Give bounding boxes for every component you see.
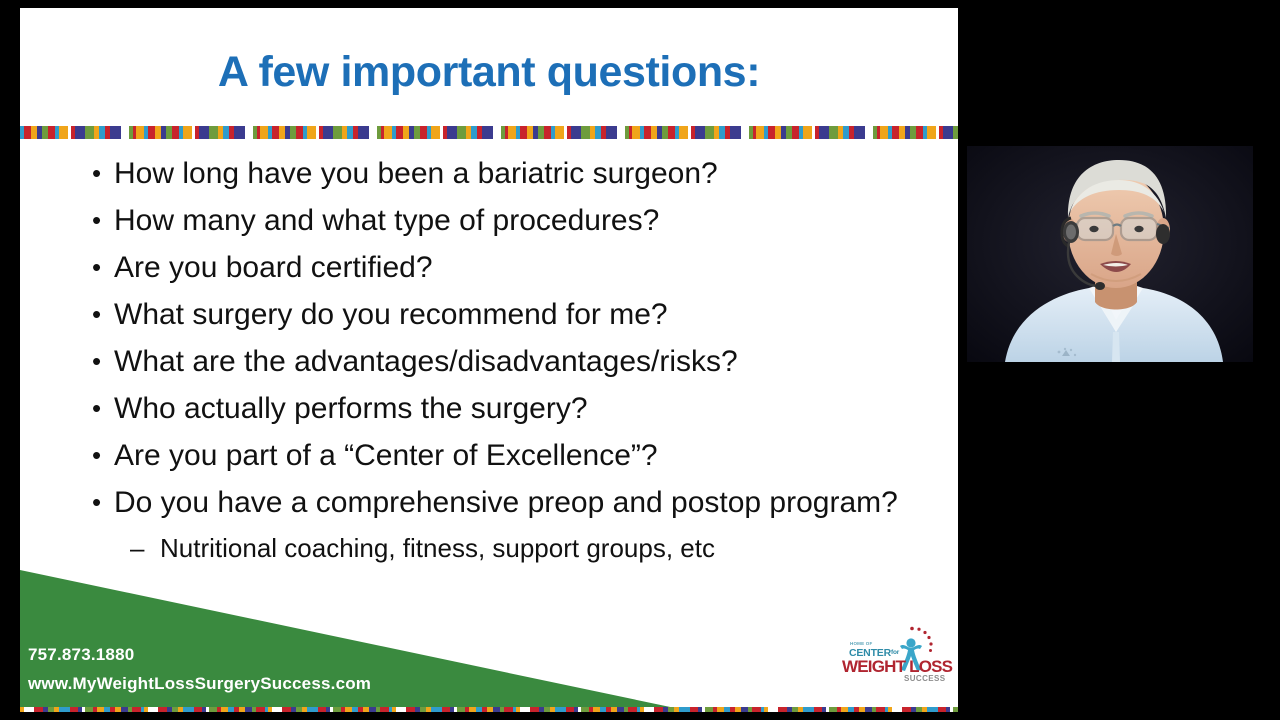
stripe-segment [741, 707, 748, 712]
stripe-segment [209, 126, 218, 139]
stripe-segment [555, 707, 566, 712]
stripe-segment [469, 707, 476, 712]
stripe-segment [632, 126, 640, 139]
bullet-marker-icon: • [78, 338, 110, 385]
stripe-segment [768, 707, 778, 712]
stripe-segment [493, 126, 501, 139]
stripe-segment [679, 707, 690, 712]
stripe-segment [854, 126, 865, 139]
stripe-segment [221, 707, 228, 712]
stripe-segment [606, 126, 617, 139]
stripe-segment [654, 707, 663, 712]
stripe-segment [953, 707, 958, 712]
stripe-segment [916, 126, 923, 139]
stripe-segment [307, 126, 316, 139]
stripe-segment [581, 126, 590, 139]
stripe-segment [333, 707, 341, 712]
stripe-segment [876, 707, 885, 712]
stripe-segment [581, 707, 589, 712]
stripe-segment [566, 707, 574, 712]
stripe-segment [927, 126, 936, 139]
stripe-segment [617, 707, 624, 712]
stripe-segment [493, 707, 500, 712]
stripe-segment [544, 126, 551, 139]
list-item: • Do you have a comprehensive preop and … [78, 479, 958, 526]
list-item: • What are the advantages/disadvantages/… [78, 338, 958, 385]
stripe-segment [369, 707, 376, 712]
stripe-segment [829, 126, 838, 139]
video-player-screen: A few important questions: • How long ha… [0, 0, 1280, 720]
stripe-segment [717, 707, 724, 712]
bullet-text: How many and what type of procedures? [110, 197, 958, 244]
decorative-stripe-top [20, 126, 958, 139]
stripe-segment [617, 126, 625, 139]
stripe-segment [256, 707, 265, 712]
stripe-segment [85, 126, 94, 139]
stripe-segment [756, 126, 764, 139]
stripe-segment [457, 126, 466, 139]
stripe-segment [384, 126, 392, 139]
stripe-segment [431, 126, 440, 139]
stripe-segment [442, 707, 450, 712]
stripe-segment [97, 707, 104, 712]
list-item: • Who actually performs the surgery? [78, 385, 958, 432]
stripe-segment [520, 126, 527, 139]
stripe-segment [530, 707, 539, 712]
stripe-segment [136, 126, 144, 139]
stripe-segment [803, 707, 814, 712]
list-item: • How long have you been a bariatric sur… [78, 150, 958, 197]
stripe-segment [508, 126, 516, 139]
stripe-segment [953, 126, 958, 139]
bullet-text: Are you board certified? [110, 244, 958, 291]
stripe-segment [865, 707, 872, 712]
stripe-segment [829, 707, 837, 712]
stripe-segment [369, 126, 377, 139]
stripe-segment [644, 707, 654, 712]
stripe-segment [172, 126, 179, 139]
footer-website: www.MyWeightLossSurgerySuccess.com [28, 669, 371, 698]
stripe-segment [628, 707, 637, 712]
stripe-segment [345, 707, 352, 712]
stripe-segment [768, 126, 775, 139]
company-logo: HOME OF CENTERfor WEIGHT LOSS SUCCESS [832, 624, 956, 688]
stripe-segment [34, 707, 43, 712]
stripe-segment [892, 707, 902, 712]
stripe-segment [752, 707, 761, 712]
stripe-segment [504, 707, 513, 712]
stripe-segment [75, 126, 85, 139]
stripe-segment [209, 707, 217, 712]
stripe-segment [110, 126, 121, 139]
bullet-marker-icon: • [78, 150, 110, 197]
bullet-text: Do you have a comprehensive preop and po… [110, 479, 958, 526]
stripe-segment [396, 707, 406, 712]
stripe-segment [892, 126, 899, 139]
stripe-segment [245, 707, 252, 712]
stripe-segment [571, 126, 581, 139]
stripe-segment [841, 707, 848, 712]
stripe-segment [307, 707, 318, 712]
stripe-segment [778, 707, 787, 712]
bullet-text: Who actually performs the surgery? [110, 385, 958, 432]
presentation-slide: A few important questions: • How long ha… [20, 8, 958, 712]
stripe-segment [695, 126, 705, 139]
stripe-segment [282, 707, 291, 712]
stripe-segment [927, 707, 938, 712]
stripe-segment [132, 707, 141, 712]
footer-phone: 757.873.1880 [28, 640, 371, 669]
stripe-segment [85, 707, 93, 712]
list-item: • What surgery do you recommend for me? [78, 291, 958, 338]
bullet-text: What are the advantages/disadvantages/ri… [110, 338, 958, 385]
stripe-segment [296, 126, 303, 139]
stripe-segment [59, 126, 68, 139]
list-item: • Are you part of a “Center of Excellenc… [78, 432, 958, 479]
bullet-marker-icon: • [78, 244, 110, 291]
stripe-segment [194, 707, 202, 712]
stripe-segment [323, 126, 333, 139]
decorative-stripe-bottom [20, 707, 958, 712]
stripe-segment [803, 126, 812, 139]
stripe-segment [24, 707, 34, 712]
footer-contact-info: 757.873.1880 www.MyWeightLossSurgerySucc… [28, 640, 371, 698]
stripe-segment [730, 126, 741, 139]
stripe-segment [396, 126, 403, 139]
stripe-segment [183, 707, 194, 712]
stripe-segment [938, 707, 946, 712]
stripe-segment [865, 126, 873, 139]
logo-tagline: HOME OF [850, 641, 872, 646]
stripe-segment [59, 707, 70, 712]
logo-success: SUCCESS [904, 674, 945, 683]
bullet-marker-icon: • [78, 385, 110, 432]
stripe-segment [260, 126, 268, 139]
stripe-segment [333, 126, 342, 139]
bullet-text: What surgery do you recommend for me? [110, 291, 958, 338]
presenter-video-feed[interactable] [967, 146, 1253, 362]
stripe-segment [272, 707, 282, 712]
stripe-segment [447, 126, 457, 139]
stripe-segment [148, 707, 158, 712]
stripe-segment [272, 126, 279, 139]
stripe-segment [121, 126, 129, 139]
stripe-segment [199, 126, 209, 139]
bullet-list: • How long have you been a bariatric sur… [78, 150, 958, 570]
stripe-segment [741, 126, 749, 139]
stripe-segment [183, 126, 192, 139]
stripe-segment [880, 126, 888, 139]
stripe-segment [644, 126, 651, 139]
stripe-segment [24, 126, 31, 139]
stripe-segment [158, 707, 167, 712]
stripe-segment [406, 707, 415, 712]
stripe-segment [668, 126, 675, 139]
stripe-segment [819, 126, 829, 139]
stripe-segment [555, 126, 564, 139]
stripe-segment [482, 126, 493, 139]
stripe-segment [358, 126, 369, 139]
stripe-segment [943, 126, 953, 139]
bullet-marker-icon: • [78, 291, 110, 338]
slide-title: A few important questions: [20, 48, 958, 97]
list-item: • Are you board certified? [78, 244, 958, 291]
bullet-text: How long have you been a bariatric surge… [110, 150, 958, 197]
stripe-segment [48, 126, 55, 139]
stripe-segment [705, 707, 713, 712]
stripe-segment [520, 707, 530, 712]
stripe-segment [121, 707, 128, 712]
stripe-segment [814, 707, 822, 712]
stripe-segment [792, 126, 799, 139]
bullet-marker-icon: • [78, 432, 110, 479]
stripe-segment [234, 126, 245, 139]
stripe-segment [902, 707, 911, 712]
stripe-segment [148, 126, 155, 139]
stripe-segment [380, 707, 389, 712]
stripe-segment [457, 707, 465, 712]
stripe-segment [431, 707, 442, 712]
stripe-segment [318, 707, 326, 712]
bullet-marker-icon: • [78, 479, 110, 526]
stripe-segment [593, 707, 600, 712]
stripe-segment [705, 126, 714, 139]
stripe-segment [679, 126, 688, 139]
list-item: • How many and what type of procedures? [78, 197, 958, 244]
stripe-segment [245, 126, 253, 139]
bullet-text: Are you part of a “Center of Excellence”… [110, 432, 958, 479]
stripe-segment [70, 707, 78, 712]
stripe-segment [690, 707, 698, 712]
logo-for-word: for [891, 649, 899, 656]
stripe-segment [420, 126, 427, 139]
bullet-marker-icon: • [78, 197, 110, 244]
